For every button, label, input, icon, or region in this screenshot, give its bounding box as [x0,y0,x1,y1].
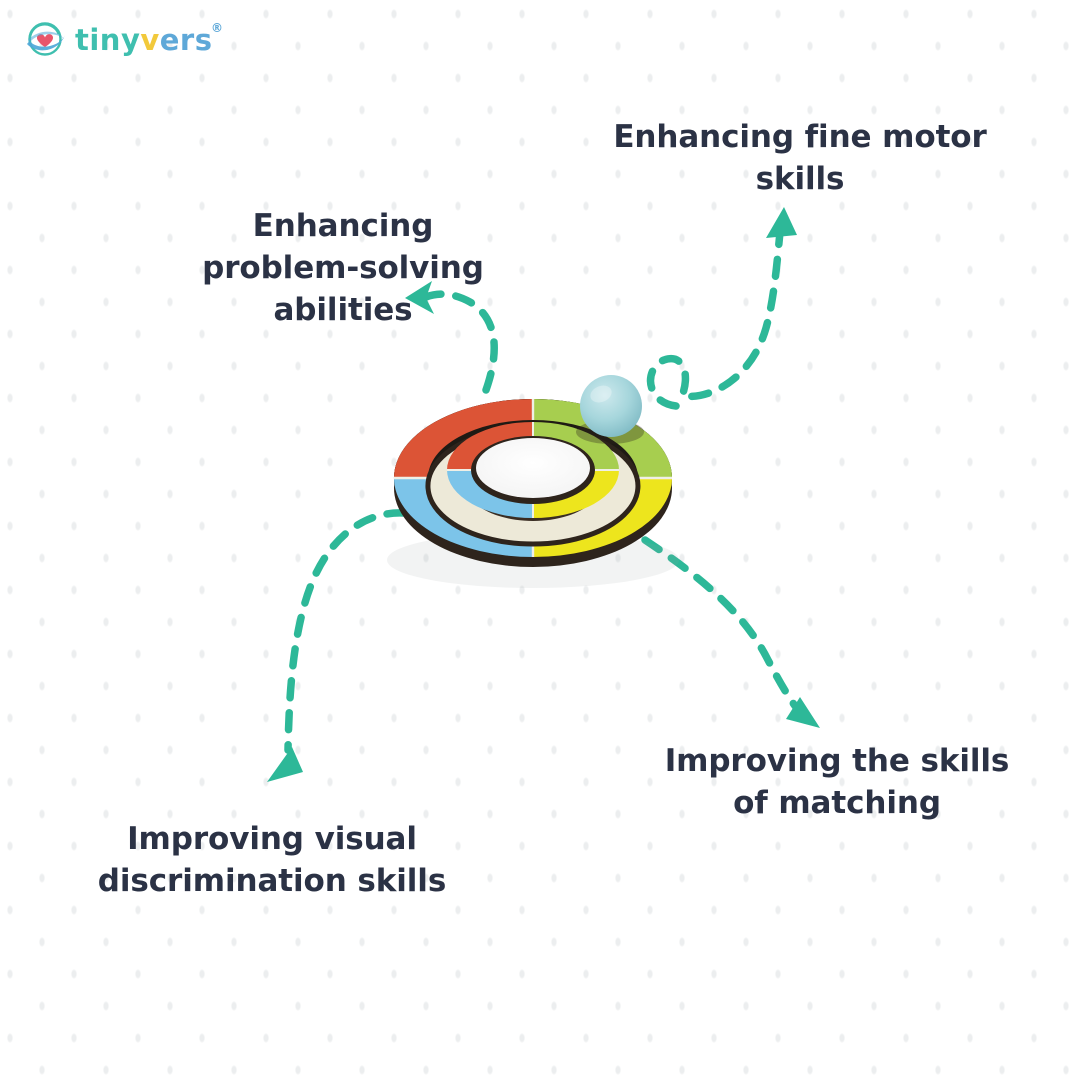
arrow-to-fine-motor [651,207,797,406]
brand-word-tiny: tiny [75,23,140,57]
infographic-canvas: tinyvers® [0,0,1080,1080]
brand-logo[interactable]: tinyvers® [24,18,213,62]
callout-visual-discrimination: Improving visual discrimination skills [72,818,472,902]
inner-segment-green [533,422,619,470]
callout-problem-solving: Enhancing problem-solving abilities [178,205,508,331]
callout-fine-motor-skills: Enhancing fine motor skills [600,116,1000,200]
inner-ring [447,422,619,518]
callout-matching-skills: Improving the skills of matching [662,740,1012,824]
outer-segment-blue [394,478,533,557]
outer-segment-red [394,399,533,478]
center-hole [471,436,595,504]
brand-word-ers: ers [160,23,213,57]
inner-segment-blue [447,470,533,518]
disc-edge [394,399,672,567]
inner-segment-red [447,422,533,470]
wood-base-ring [428,428,638,544]
arrow-to-visual-discrimination [267,513,404,782]
outer-segment-yellow [533,478,672,557]
inner-segment-yellow [533,470,619,518]
trademark-symbol: ® [211,22,224,34]
callout-fine-motor-text: Enhancing fine motor skills [613,119,986,197]
arrow-to-matching [645,540,820,728]
globe-heart-logo-icon [24,20,68,60]
callout-visual-discrimination-text: Improving visual discrimination skills [98,821,446,899]
brand-word-v: v [140,23,159,57]
brand-wordmark: tinyvers® [75,26,213,55]
outer-segment-green [533,399,672,478]
callout-matching-text: Improving the skills of matching [665,743,1010,821]
callout-problem-solving-text: Enhancing problem-solving abilities [202,208,484,328]
wooden-ball [576,375,644,444]
outer-ring [394,399,672,557]
